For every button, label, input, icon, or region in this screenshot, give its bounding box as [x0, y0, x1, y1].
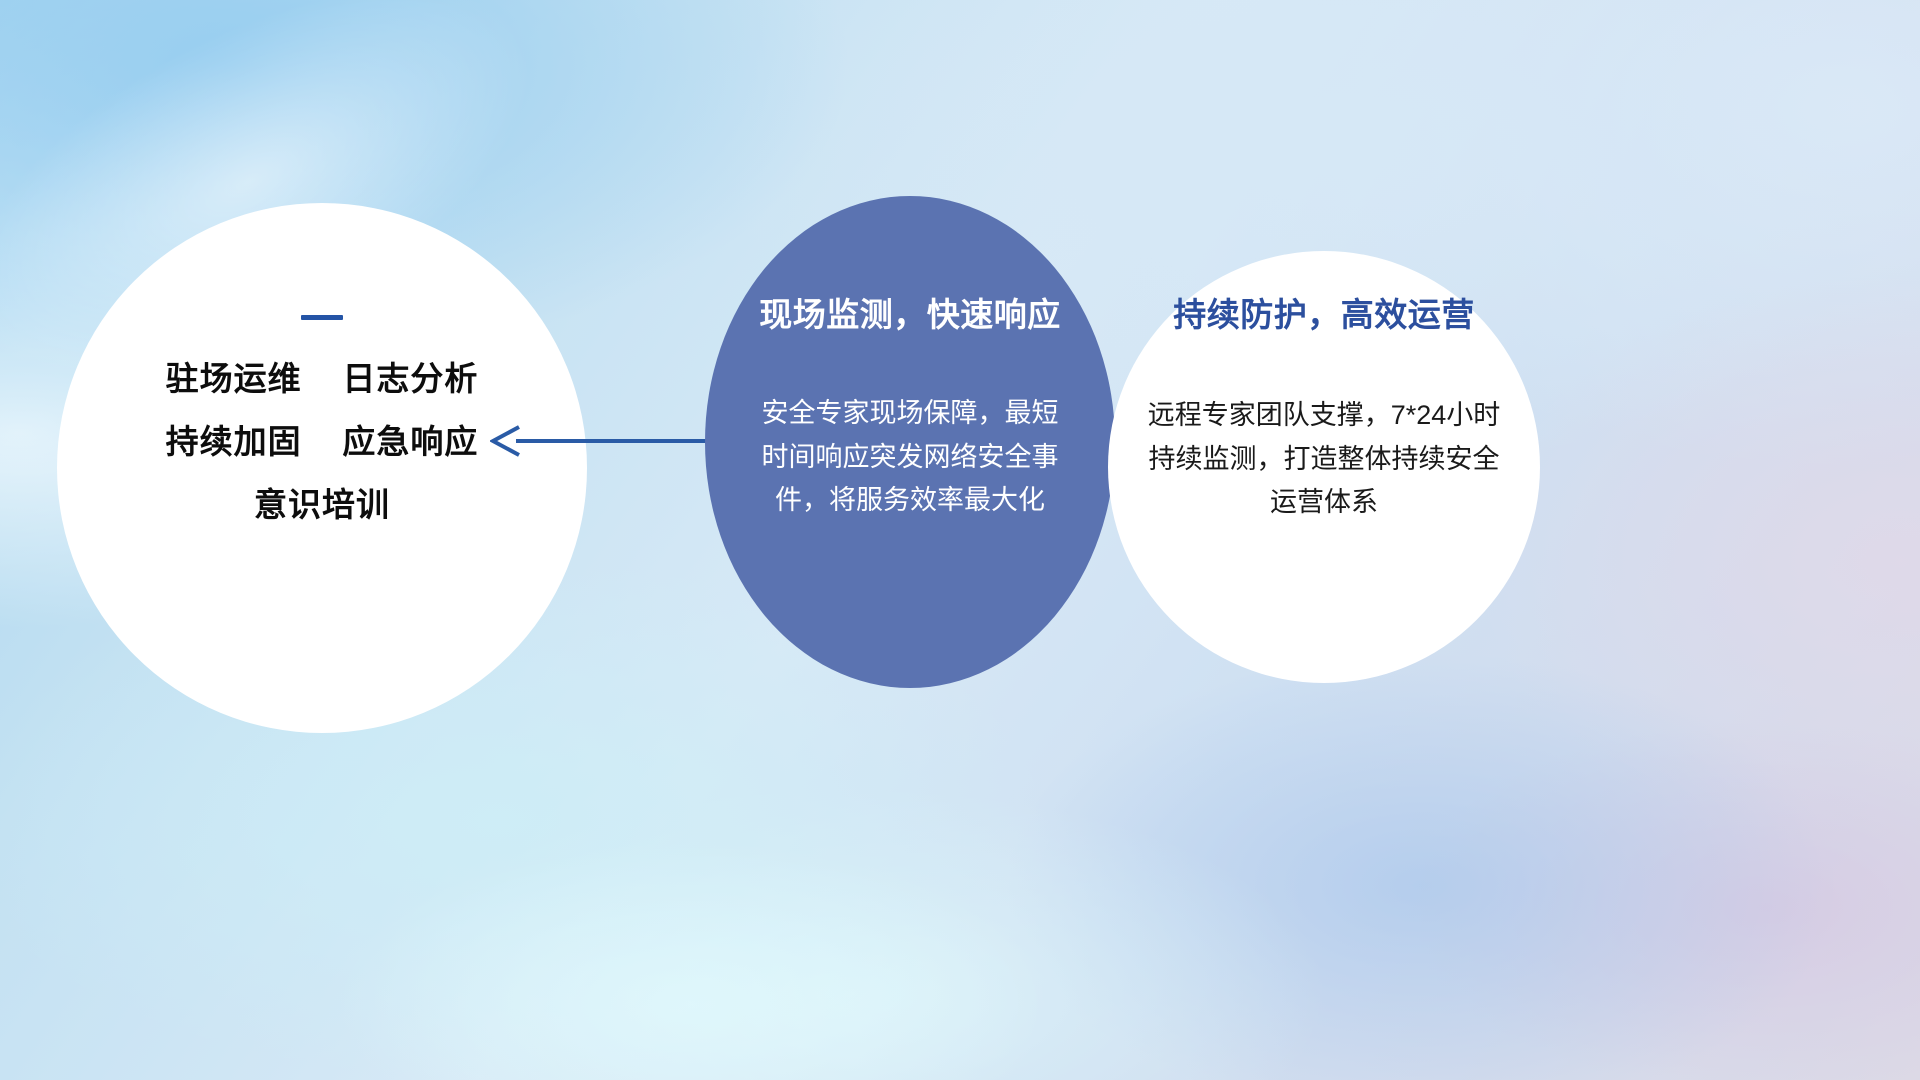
capability-line-3: 意识培训: [254, 488, 390, 521]
onsite-monitoring-title: 现场监测，快速响应: [759, 288, 1061, 336]
divider-dash-icon: [301, 315, 343, 320]
capability-line-2: 持续加固 应急响应: [166, 425, 479, 458]
onsite-monitoring-circle[interactable]: 现场监测，快速响应 安全专家现场保障，最短时间响应突发网络安全事件，将服务效率最…: [705, 196, 1115, 688]
background-bottom-glow: [192, 778, 1190, 1080]
onsite-monitoring-body: 安全专家现场保障，最短时间响应突发网络安全事件，将服务效率最大化: [760, 392, 1060, 523]
continuous-protection-circle[interactable]: 持续防护，高效运营 远程专家团队支撑，7*24小时持续监测，打造整体持续安全运营…: [1108, 251, 1540, 683]
left-capability-circle[interactable]: 驻场运维 日志分析 持续加固 应急响应 意识培训: [57, 203, 587, 733]
continuous-protection-body: 远程专家团队支撑，7*24小时持续监测，打造整体持续安全运营体系: [1139, 394, 1509, 525]
arrow-left-icon: [490, 424, 720, 458]
continuous-protection-title: 持续防护，高效运营: [1173, 288, 1475, 336]
capability-line-1: 驻场运维 日志分析: [166, 362, 479, 395]
